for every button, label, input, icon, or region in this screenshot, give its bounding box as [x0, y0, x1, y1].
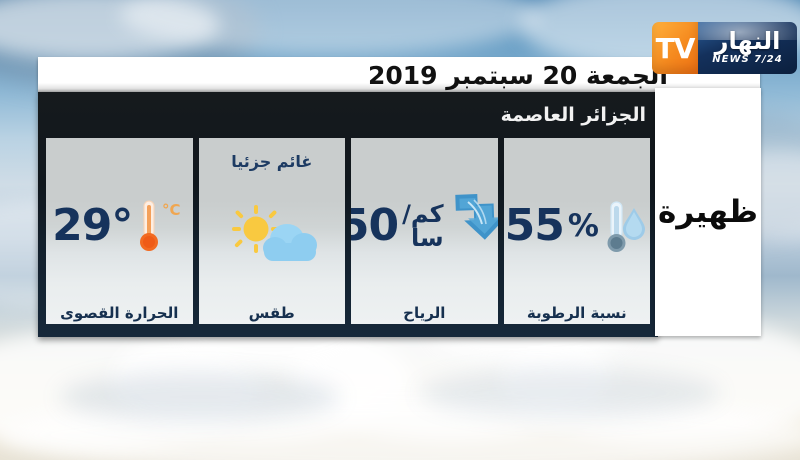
logo-main-badge: النهار NEWS 7/24 — [698, 22, 797, 74]
humidity-label: نسبة الرطوبة — [527, 306, 627, 321]
logo-tagline: NEWS 7/24 — [712, 54, 782, 65]
logo-arabic-name: النهار — [715, 29, 781, 53]
humidity-value: 55 — [505, 204, 564, 248]
panel-temperature-body: °C 29° — [46, 138, 193, 296]
wind-value: 50 — [351, 204, 398, 248]
logo-tv-badge: TV — [652, 22, 698, 74]
temperature-value: 29° — [52, 204, 132, 248]
condition-text: غائم جزئيا — [199, 152, 346, 171]
condition-label: طقس — [249, 306, 295, 321]
sun-cloud-icon — [225, 201, 319, 267]
wind-arrow-icon — [448, 184, 498, 246]
thermometer-droplet-icon — [603, 194, 649, 258]
cloud-shape — [420, 368, 720, 418]
panel-humidity[interactable]: % 55 نسبة الرطوبة — [504, 138, 651, 324]
panel-temperature[interactable]: °C 29° الحرارة القصوى — [46, 138, 193, 324]
daypart-label: ظهيرة — [658, 197, 758, 228]
panel-temperature-foot: الحرارة القصوى — [46, 296, 193, 324]
broadcast-date: الجمعة 20 سبتمبر 2019 — [368, 63, 668, 88]
daypart-panel: ظهيرة — [655, 88, 761, 336]
city-name: الجزائر العاصمة — [501, 104, 646, 126]
panel-wind[interactable]: كم/سا 50 الرياح — [351, 138, 498, 324]
broadcast-screen: الجمعة 20 سبتمبر 2019 TV النهار NEWS 7/2… — [0, 0, 800, 460]
panel-humidity-foot: نسبة الرطوبة — [504, 296, 651, 324]
wind-unit: كم/سا — [402, 202, 444, 250]
weather-card-header: الجزائر العاصمة — [38, 92, 658, 138]
temperature-label: الحرارة القصوى — [60, 306, 178, 321]
thermometer-hot-icon: °C — [136, 193, 186, 259]
humidity-percent-sign: % — [568, 211, 599, 242]
panel-wind-foot: الرياح — [351, 296, 498, 324]
panel-wind-body: كم/سا 50 — [351, 138, 498, 296]
svg-text:°C: °C — [162, 201, 181, 219]
wind-label: الرياح — [403, 306, 445, 321]
channel-logo: TV النهار NEWS 7/24 — [652, 22, 797, 74]
panel-condition-foot: طقس — [199, 296, 346, 324]
panel-condition[interactable]: غائم جزئيا — [199, 138, 346, 324]
weather-panel-row: % 55 نسبة الرطوبة — [38, 138, 658, 324]
panel-humidity-body: % 55 — [504, 138, 651, 296]
cloud-shape — [60, 372, 340, 422]
weather-card: الجزائر العاصمة — [38, 92, 658, 337]
